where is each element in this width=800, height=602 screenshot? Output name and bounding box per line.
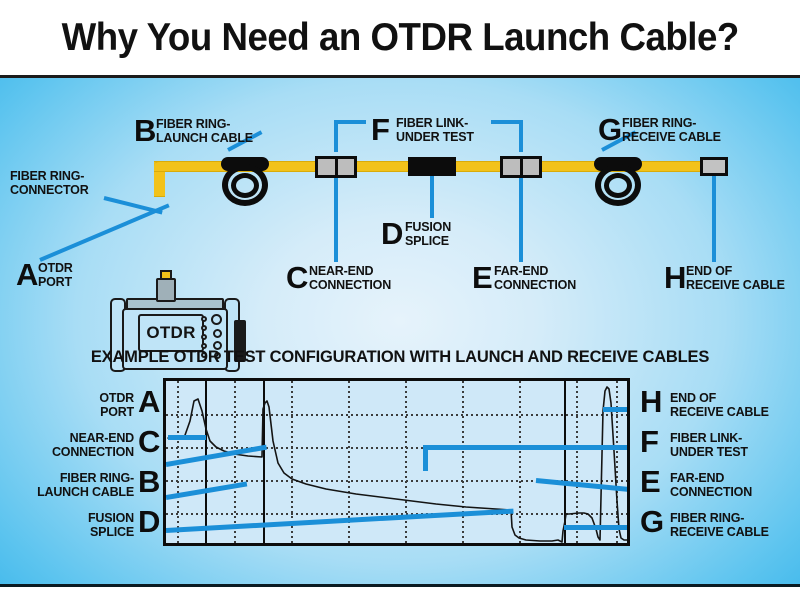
- bracket-fiber-link-right-arm: [491, 120, 523, 124]
- end-of-receive-cap: [700, 157, 728, 176]
- chart-letter-e: E: [640, 466, 661, 497]
- infographic-root: Why You Need an OTDR Launch Cable?: [0, 0, 800, 602]
- chart-label-near-end: NEAR-END CONNECTION: [38, 432, 134, 459]
- bracket-fiber-link-left-arm: [334, 120, 366, 124]
- cable-elbow: [154, 161, 212, 172]
- chart-label-far-end: FAR-END CONNECTION: [670, 472, 752, 499]
- pointer-g-receive-cable: [564, 525, 627, 530]
- otdr-key-7[interactable]: [201, 334, 207, 340]
- letter-h-top: H: [664, 262, 686, 293]
- leader-near-end: [334, 178, 338, 262]
- otdr-key-1[interactable]: [211, 314, 222, 325]
- letter-a-top: A: [16, 259, 38, 290]
- otdr-trace-chart: [163, 378, 630, 546]
- title-band: Why You Need an OTDR Launch Cable?: [0, 0, 800, 78]
- leader-otdr-port: [39, 203, 169, 261]
- label-near-end-top: NEAR-END CONNECTION: [309, 265, 391, 292]
- chart-section-heading: EXAMPLE OTDR TEST CONFIGURATION WITH LAU…: [0, 348, 800, 367]
- otdr-screen-label: OTDR: [146, 323, 195, 343]
- leader-fusion-splice: [430, 176, 434, 218]
- bracket-fiber-link-right-stem: [519, 120, 523, 152]
- fiber-ring-connector-module: [156, 278, 176, 302]
- bottom-margin: [0, 590, 800, 602]
- chart-letter-g: G: [640, 506, 664, 537]
- fiber-ring-receive-coil: [588, 153, 648, 208]
- chart-letter-f: F: [640, 426, 659, 457]
- chart-label-receive-cable: FIBER RING- RECEIVE CABLE: [670, 512, 769, 539]
- leader-far-end: [519, 178, 523, 262]
- chart-label-fusion-splice: FUSION SPLICE: [60, 512, 134, 539]
- otdr-key-5[interactable]: [201, 316, 207, 322]
- otdr-screen: OTDR: [138, 314, 204, 352]
- label-fusion-splice-top: FUSION SPLICE: [405, 221, 451, 248]
- chart-letter-h: H: [640, 386, 662, 417]
- chart-letter-a: A: [138, 386, 160, 417]
- pointer-a-otdr-port: [168, 435, 206, 440]
- leader-end-of-receive: [712, 176, 716, 262]
- label-end-of-receive-top: END OF RECEIVE CABLE: [686, 265, 785, 292]
- fiber-ring-connector-tip: [160, 270, 172, 280]
- label-receive-cable-top: FIBER RING- RECEIVE CABLE: [622, 117, 721, 144]
- chart-label-launch-cable: FIBER RING- LAUNCH CABLE: [28, 472, 134, 499]
- chart-label-end-of-receive: END OF RECEIVE CABLE: [670, 392, 769, 419]
- letter-c-top: C: [286, 262, 308, 293]
- chart-letter-c: C: [138, 426, 160, 457]
- connector-far-end: [500, 156, 542, 178]
- label-far-end-top: FAR-END CONNECTION: [494, 265, 576, 292]
- chart-label-fiber-link: FIBER LINK- UNDER TEST: [670, 432, 748, 459]
- chart-label-otdr-port: OTDR PORT: [60, 392, 134, 419]
- otdr-key-6[interactable]: [201, 325, 207, 331]
- label-otdr-port-top: OTDR PORT: [38, 262, 73, 289]
- label-fiber-ring-connector: FIBER RING- CONNECTOR: [10, 170, 89, 197]
- fusion-splice-marker: [408, 157, 456, 176]
- chart-letter-d: D: [138, 506, 160, 537]
- connector-near-end: [315, 156, 357, 178]
- label-launch-cable-top: FIBER RING- LAUNCH CABLE: [156, 118, 253, 145]
- chart-letter-b: B: [138, 466, 160, 497]
- pointer-f-link-arm: [423, 445, 627, 450]
- letter-d-top: D: [381, 218, 403, 249]
- fiber-ring-launch-coil: [215, 153, 275, 208]
- otdr-key-2[interactable]: [213, 329, 222, 338]
- page-title: Why You Need an OTDR Launch Cable?: [61, 16, 738, 60]
- bracket-fiber-link-left-stem: [334, 120, 338, 152]
- letter-f-top: F: [371, 114, 390, 145]
- label-fiber-link-top: FIBER LINK- UNDER TEST: [396, 117, 474, 144]
- letter-g-top: G: [598, 114, 622, 145]
- pointer-h-end-of-receive: [603, 407, 627, 412]
- letter-e-top: E: [472, 262, 493, 293]
- letter-b-top: B: [134, 115, 156, 146]
